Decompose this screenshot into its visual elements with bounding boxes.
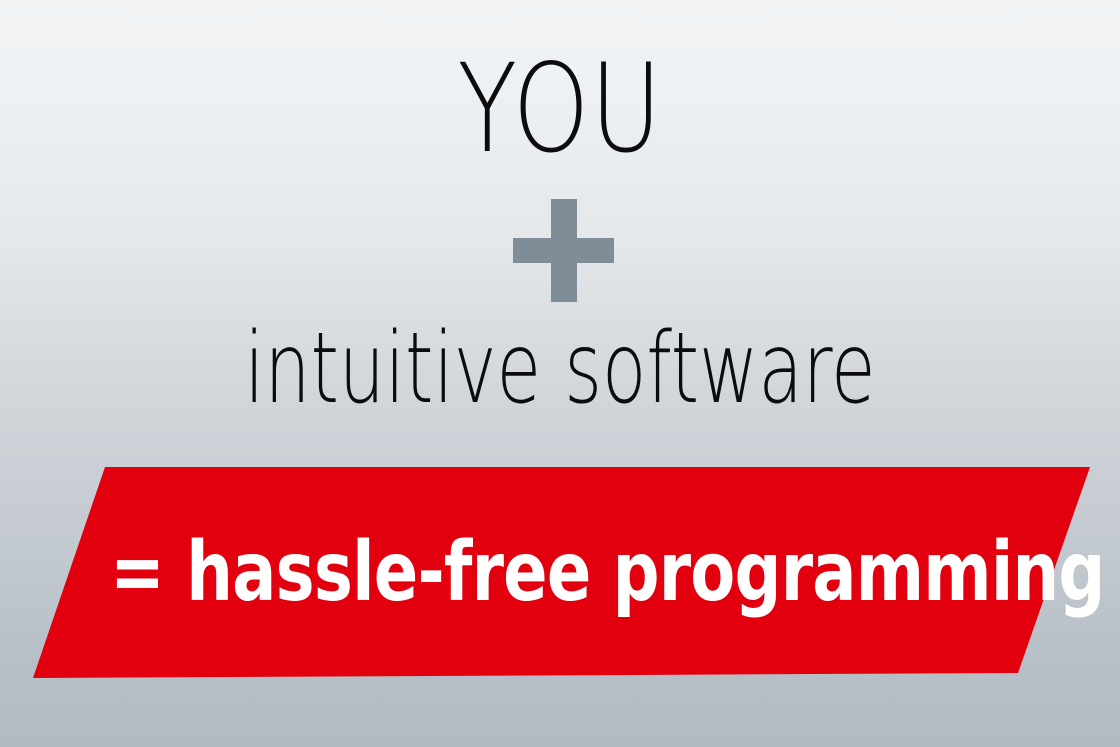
slide-canvas: YOU intuitive software = hassle-free pro…	[0, 0, 1120, 747]
plus-sign-icon	[513, 199, 614, 302]
headline-intuitive-software: intuitive software	[146, 320, 975, 418]
result-banner: = hassle-free programming	[0, 467, 1120, 678]
plus-horizontal-bar	[513, 238, 614, 263]
headline-you: YOU	[112, 48, 1008, 170]
banner-label: = hassle-free programming	[110, 467, 1105, 678]
